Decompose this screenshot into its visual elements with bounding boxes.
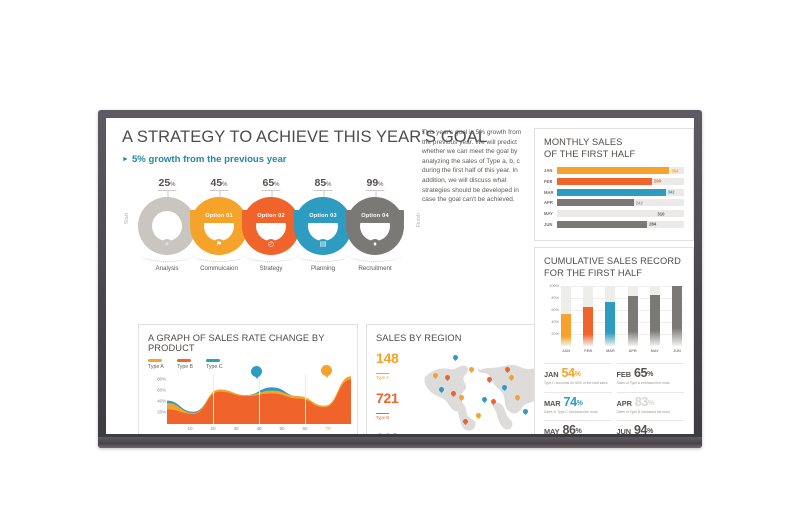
bar-fill	[557, 189, 666, 196]
bar-fill	[557, 221, 647, 228]
monthly-sales-title: MONTHLY SALES OF THE FIRST HALF	[544, 137, 684, 160]
month-stat: MAR74%Sales of Type C increased the most…	[544, 392, 612, 414]
bottom-cards-row: A GRAPH OF SALES RATE CHANGE BY PRODUCT …	[138, 324, 542, 434]
cumulative-bar-fill	[628, 296, 638, 346]
step-tick	[158, 190, 177, 191]
bar-month-label: MAY	[544, 211, 557, 216]
cumulative-bar-fill	[605, 302, 615, 346]
region-label: Type B	[376, 413, 389, 420]
bar-track: 342	[557, 189, 684, 196]
stat-month: APR	[617, 399, 632, 408]
axis-tick-label: 20%	[157, 410, 166, 415]
screenshot-root: A STRATEGY TO ACHIEVE THIS YEAR’S GOAL ►…	[0, 0, 800, 531]
axis-tick-label: 20	[210, 426, 215, 431]
bar-month-label: FEB	[544, 179, 557, 184]
gridline	[213, 374, 214, 424]
axis-tick-label: 100%	[549, 284, 559, 288]
stat-description: Sales of Type C increased the most.	[544, 410, 612, 414]
step-percent: 85%	[314, 177, 331, 189]
bar-value-label: 299	[652, 179, 661, 184]
marker-pin[interactable]: 63	[321, 365, 332, 376]
stat-value: 74%	[564, 395, 583, 409]
axis-tick-label: 40	[256, 426, 261, 431]
region-value: 148	[376, 351, 416, 366]
step-name: Recruitment	[358, 265, 391, 272]
region-figure: 721Type B	[376, 391, 416, 424]
bar-track: 310	[557, 210, 684, 217]
bar-month-label: JUN	[544, 222, 557, 227]
step-name: Strategy	[259, 265, 282, 272]
monthly-bar-row: APR242	[544, 199, 684, 207]
axis-tick-label: 20%	[551, 332, 559, 336]
legend-item: Type C	[206, 359, 222, 370]
stat-month: MAY	[544, 427, 559, 434]
monthly-bar-row: MAY310	[544, 210, 684, 218]
bar-value-label: 342	[666, 190, 675, 195]
axis-tick-label: 60	[302, 426, 307, 431]
bar-value-label: 354	[669, 168, 678, 173]
month-stat: FEB65%Sales of Type A increased the most…	[617, 363, 685, 385]
stat-description: Type C accounts for 54% of the total sal…	[544, 381, 612, 385]
left-column: A STRATEGY TO ACHIEVE THIS YEAR’S GOAL ►…	[122, 128, 526, 281]
region-figure: 962Type C	[376, 431, 416, 434]
goal-description: This year's goal is 5% growth from the p…	[422, 128, 526, 205]
monitor-icon: ▤	[317, 239, 329, 251]
axis-tick-label: FEB	[583, 348, 593, 353]
axis-tick-label: 80%	[551, 296, 559, 300]
gridline	[305, 374, 306, 424]
monthly-sales-card: MONTHLY SALES OF THE FIRST HALF JAN354FE…	[534, 128, 694, 241]
chain-finish-label: Finish	[416, 213, 422, 227]
bar-track: 284	[557, 221, 684, 228]
month-stat: APR83%Sales of Type B increased the most…	[617, 392, 685, 414]
sales-rate-card: A GRAPH OF SALES RATE CHANGE BY PRODUCT …	[138, 324, 358, 434]
gridline	[259, 374, 260, 424]
monthly-bars: JAN354FEB299MAR342APR242MAY310JUN284	[544, 167, 684, 228]
bar-value-label: 284	[647, 222, 656, 227]
bar-fill	[557, 178, 652, 185]
step-percent: 25%	[158, 177, 175, 189]
legend-label: Type C	[206, 364, 222, 370]
bar-track: 299	[557, 178, 684, 185]
bar-value-label: 310	[655, 211, 664, 216]
area-x-axis: 10203040506070	[167, 426, 351, 434]
step-percent: 65%	[262, 177, 279, 189]
axis-tick-label: MAY	[650, 348, 660, 353]
cumulative-chart: 100%80%60%40%20% JANFEBMARAPRMAYJUN	[544, 286, 684, 358]
axis-tick-label: MAR	[605, 348, 615, 353]
monthly-bar-row: JAN354	[544, 167, 684, 175]
legend-item: Type B	[177, 359, 193, 370]
stat-value: 54%	[562, 366, 581, 380]
bar-track: 242	[557, 199, 684, 206]
month-stat: JAN54%Type C accounts for 54% of the tot…	[544, 363, 612, 385]
magnifier-icon: ⌕	[161, 239, 173, 251]
cumulative-bar[interactable]	[650, 286, 660, 346]
stat-month: JAN	[544, 370, 559, 379]
monthly-bar-row: FEB299	[544, 178, 684, 186]
region-value: 721	[376, 391, 416, 406]
cumulative-title-line1: CUMULATIVE SALES RECORD	[544, 256, 681, 266]
legend-swatch	[148, 359, 162, 362]
bar-fill	[557, 167, 669, 174]
axis-tick-label: 50	[279, 426, 284, 431]
cumulative-bar[interactable]	[628, 286, 638, 346]
axis-tick-label: 40%	[157, 399, 166, 404]
bar-month-label: JAN	[544, 168, 557, 173]
sales-rate-title: A GRAPH OF SALES RATE CHANGE BY PRODUCT	[148, 333, 348, 353]
monthly-title-line1: MONTHLY SALES	[544, 137, 622, 147]
axis-tick-label: JAN	[561, 348, 571, 353]
stat-value: 86%	[562, 423, 581, 434]
process-steps: 25%⌕Analysis45%Option 01⚑Commuicaion65%O…	[138, 177, 412, 281]
step-option-label: Option 04	[346, 210, 404, 223]
cumulative-bar[interactable]	[605, 286, 615, 346]
person-icon: ♦	[369, 239, 381, 251]
bar-value-label: 242	[634, 200, 643, 205]
bar-fill	[557, 199, 634, 206]
monthly-bar-row: JUN284	[544, 220, 684, 228]
legend-item: Type A	[148, 359, 164, 370]
cumulative-x-axis: JANFEBMARAPRMAYJUN	[561, 348, 682, 353]
stat-month: MAR	[544, 399, 561, 408]
axis-tick-label: APR	[628, 348, 638, 353]
stat-month: FEB	[617, 370, 631, 379]
world-map-svg	[419, 347, 537, 433]
cumulative-bar-fill	[561, 314, 571, 346]
world-map	[419, 347, 537, 433]
axis-tick-label: 30	[233, 426, 238, 431]
cumulative-bar[interactable]	[583, 286, 593, 346]
axis-tick-label: 60%	[157, 388, 166, 393]
region-figures: 148Type A721Type B962Type C	[376, 351, 416, 434]
step-option-label: Option 02	[242, 210, 300, 223]
display-screen: A STRATEGY TO ACHIEVE THIS YEAR’S GOAL ►…	[106, 118, 694, 434]
stat-value: 94%	[634, 423, 653, 434]
axis-tick-label: 60%	[551, 308, 559, 312]
legend-label: Type A	[148, 364, 164, 370]
cumulative-bars	[561, 286, 682, 346]
cumulative-bar[interactable]	[561, 286, 571, 346]
sales-rate-legend: Type AType BType C	[148, 359, 348, 370]
region-card: SALES BY REGION 148Type A721Type B962Typ…	[366, 324, 542, 434]
cumulative-bar[interactable]	[672, 286, 682, 346]
cumulative-title: CUMULATIVE SALES RECORD FOR THE FIRST HA…	[544, 256, 684, 279]
region-label: Type A	[376, 373, 389, 380]
cumulative-title-line2: FOR THE FIRST HALF	[544, 268, 642, 278]
step-percent: 45%	[210, 177, 227, 189]
bar-track: 354	[557, 167, 684, 174]
bar-fill	[557, 210, 655, 217]
lg-display-monitor: A STRATEGY TO ACHIEVE THIS YEAR’S GOAL ►…	[98, 110, 702, 448]
cumulative-sales-card: CUMULATIVE SALES RECORD FOR THE FIRST HA…	[534, 247, 694, 434]
lg-brand-logo: LG	[392, 439, 408, 446]
stat-description: Sales of Type A increased the most.	[617, 381, 685, 385]
marker-pin[interactable]: 33	[251, 366, 262, 377]
bar-month-label: APR	[544, 200, 557, 205]
axis-tick-label: 10	[187, 426, 192, 431]
area-plot: 33 63	[167, 374, 351, 424]
monthly-title-line2: OF THE FIRST HALF	[544, 149, 635, 159]
month-stat: JUN94%Sales of Type B increased the most…	[617, 420, 685, 434]
sales-rate-chart: 20%40%60%80%	[148, 374, 351, 435]
legend-label: Type B	[177, 364, 193, 370]
legend-swatch	[177, 359, 191, 362]
triangle-bullet-icon: ►	[122, 156, 129, 163]
axis-tick-label: JUN	[672, 348, 682, 353]
axis-tick-label: 70	[325, 426, 330, 431]
axis-tick-label: 40%	[551, 320, 559, 324]
right-column: MONTHLY SALES OF THE FIRST HALF JAN354FE…	[534, 128, 694, 434]
axis-tick-label: 80%	[157, 377, 166, 382]
megaphone-icon: ⚑	[213, 239, 225, 251]
area-y-axis: 20%40%60%80%	[148, 374, 166, 424]
legend-swatch	[206, 359, 220, 362]
step-tick	[366, 190, 385, 191]
step-tick	[210, 190, 229, 191]
cumulative-bar-fill	[650, 295, 660, 347]
stat-description: Sales of Type B increased the most.	[617, 410, 685, 414]
ring-hole	[152, 211, 182, 241]
stat-month: JUN	[617, 427, 632, 434]
stat-value: 65%	[634, 366, 653, 380]
cumulative-y-axis: 100%80%60%40%20%	[544, 286, 559, 346]
step-name: Planning	[311, 265, 335, 272]
step-option-label: Option 01	[190, 210, 248, 223]
step-option-label: Option 03	[294, 210, 352, 223]
step-tick	[262, 190, 281, 191]
dashboard-slide: A STRATEGY TO ACHIEVE THIS YEAR’S GOAL ►…	[106, 118, 694, 434]
cumulative-bar-fill	[672, 286, 682, 346]
step-name: Analysis	[155, 265, 178, 272]
step-tick	[314, 190, 333, 191]
monthly-bar-row: MAR342	[544, 188, 684, 196]
chain-start-label: Start	[124, 213, 130, 224]
region-value: 962	[376, 431, 416, 434]
month-stat: MAY86%Type B accounts for 86% of the tot…	[544, 420, 612, 434]
monthly-stat-grid: JAN54%Type C accounts for 54% of the tot…	[544, 363, 684, 434]
page-subtitle-text: 5% growth from the previous year	[132, 154, 287, 165]
cumulative-bar-fill	[583, 307, 593, 346]
step-percent: 99%	[366, 177, 383, 189]
stat-value: 83%	[635, 395, 654, 409]
region-figure: 148Type A	[376, 351, 416, 384]
region-title: SALES BY REGION	[376, 333, 532, 343]
bar-month-label: MAR	[544, 190, 557, 195]
step-name: Commuicaion	[200, 265, 238, 272]
clock-icon: ◴	[265, 239, 277, 251]
